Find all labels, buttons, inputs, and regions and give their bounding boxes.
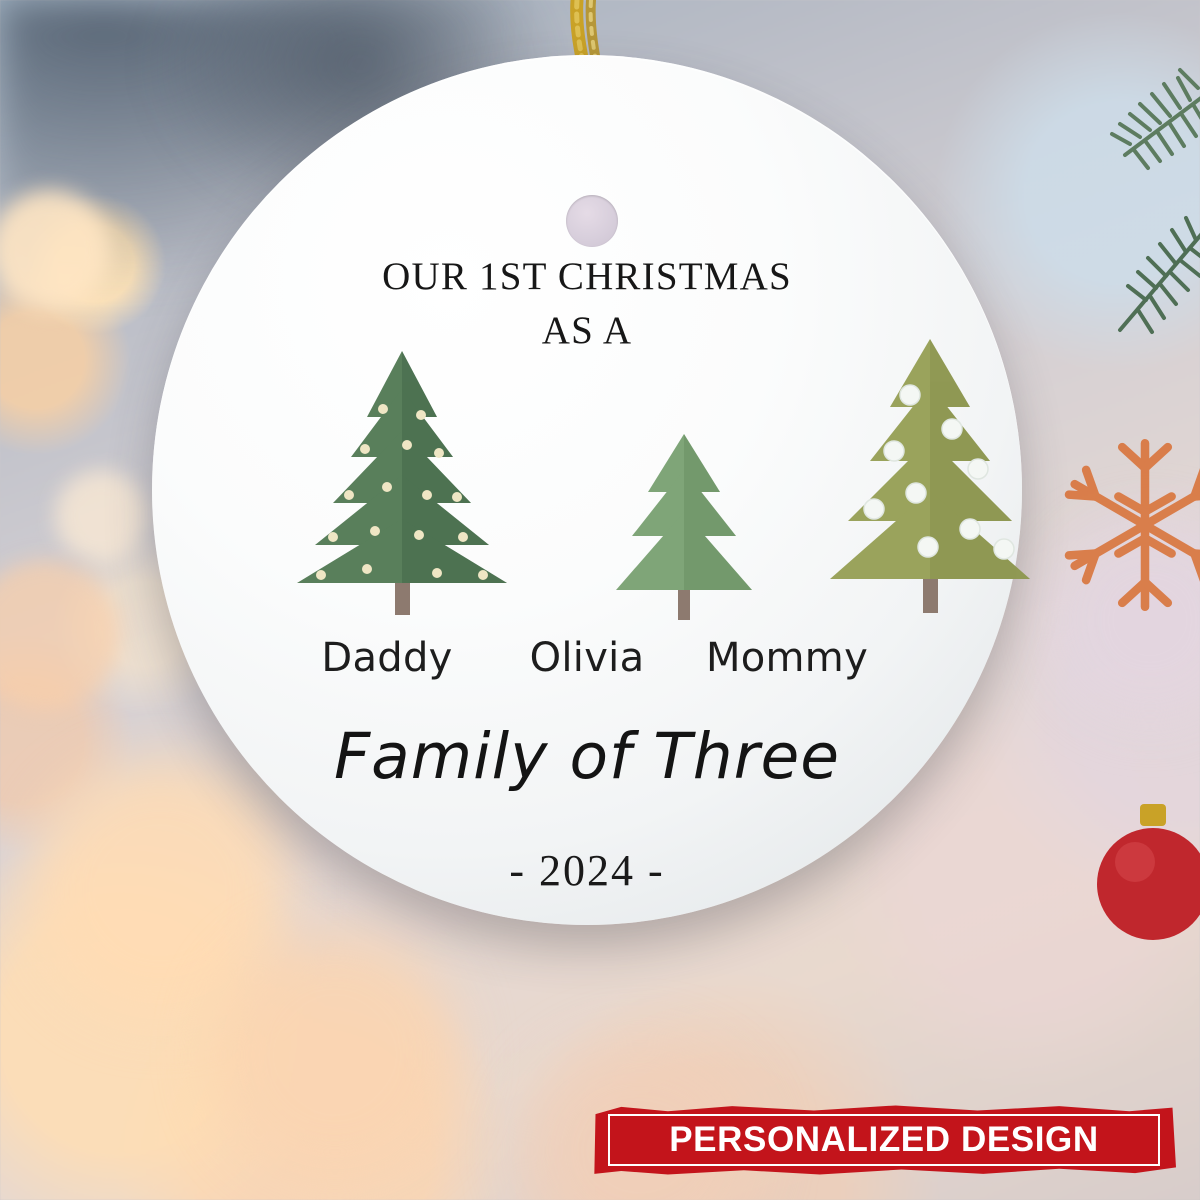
christmas-ornament: OUR 1ST CHRISTMAS AS A [152,55,1022,980]
tree-olive-fir-icon [824,333,1039,623]
ornament-year-text: - 2024 - [152,845,1022,896]
name-olivia: Olivia [487,635,687,681]
tree-illustrations [152,355,1022,625]
pine-sprig-icon [1060,210,1200,370]
ornament-hole [566,195,618,247]
product-photo-scene: OUR 1ST CHRISTMAS AS A [0,0,1200,1200]
name-mommy: Mommy [687,635,887,681]
ornament-name-row: Daddy Olivia Mommy [152,635,1022,681]
name-daddy: Daddy [287,635,487,681]
tree-tall-dark-pine-icon [287,345,517,620]
ornament-script-text: Family of Three [152,720,1022,793]
glitter-snowflake-icon [1050,430,1200,620]
banner-label: PERSONALIZED DESIGN [592,1104,1176,1176]
red-bauble-icon [1090,800,1200,940]
personalized-design-banner: PERSONALIZED DESIGN [592,1104,1176,1176]
title-line-1: OUR 1ST CHRISTMAS [152,250,1022,304]
tree-small-green-pine-icon [604,430,764,625]
bokeh-light [55,470,147,562]
